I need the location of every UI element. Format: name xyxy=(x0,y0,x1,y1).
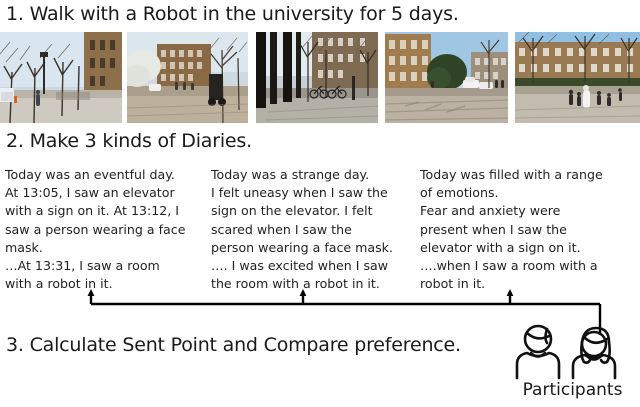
participants-group: Participants xyxy=(505,322,640,407)
photo-strip xyxy=(0,32,640,123)
photo-1-art xyxy=(0,32,122,123)
photo-campus-courtyard-brick-building xyxy=(127,32,248,123)
person-male-icon xyxy=(517,326,559,378)
diary-column-emotional: Today was a strange day. I felt uneasy w… xyxy=(211,166,411,293)
person-female-icon xyxy=(573,328,615,378)
slide-canvas: 1. Walk with a Robot in the university f… xyxy=(0,0,640,407)
diary-column-factual: Today was an eventful day. At 13:05, I s… xyxy=(5,166,205,293)
photo-campus-plaza-people-walking xyxy=(515,32,640,123)
participants-label: Participants xyxy=(505,380,640,400)
photo-4-art xyxy=(385,32,508,123)
photo-2-art xyxy=(127,32,248,123)
step-3-heading: 3. Calculate Sent Point and Compare pref… xyxy=(6,334,461,356)
photo-campus-path-bicycles-silhouette xyxy=(256,32,378,123)
photo-campus-street-with-bare-trees xyxy=(0,32,122,123)
photo-5-art xyxy=(515,32,640,123)
participants-icons xyxy=(505,322,640,382)
bracket-arrowheads xyxy=(88,289,514,296)
diary-column-summary-emotion: Today was filled with a range of emotion… xyxy=(420,166,630,293)
photo-3-art xyxy=(256,32,378,123)
photo-campus-parking-lot-buildings xyxy=(385,32,508,123)
step-1-heading: 1. Walk with a Robot in the university f… xyxy=(6,3,459,25)
step-2-heading: 2. Make 3 kinds of Diaries. xyxy=(6,130,252,152)
